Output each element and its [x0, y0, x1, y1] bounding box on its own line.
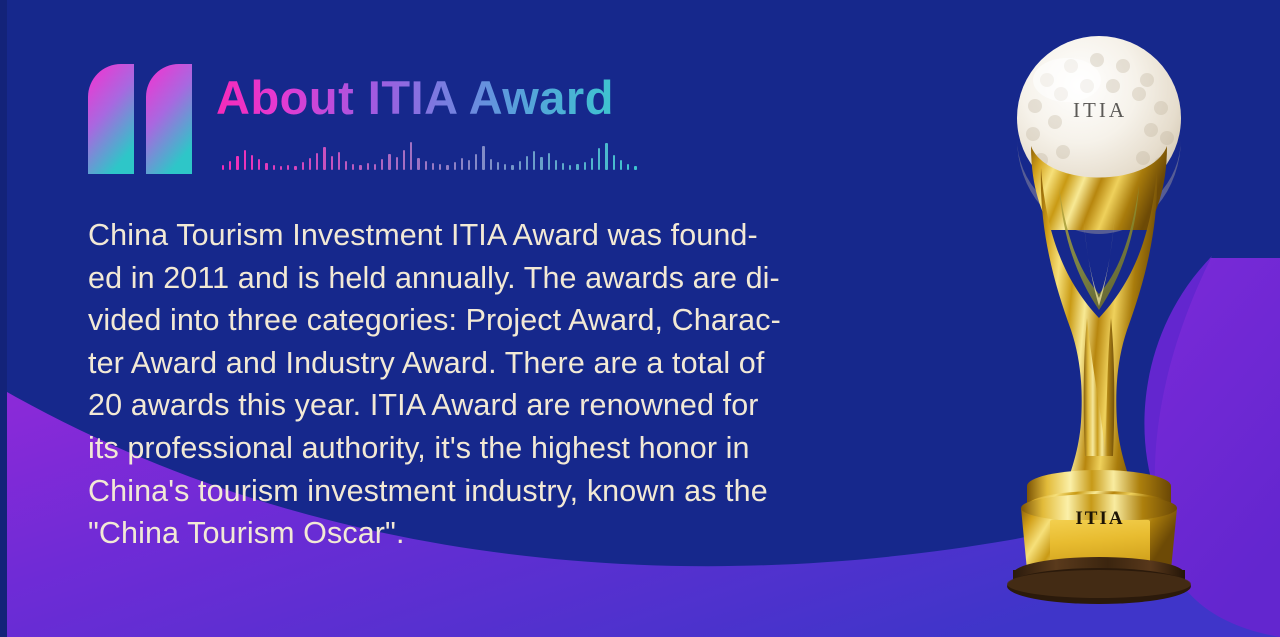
waveform-bar: [446, 165, 448, 170]
waveform-decoration: [222, 140, 642, 170]
waveform-bar: [497, 162, 499, 170]
waveform-bar: [511, 165, 513, 170]
waveform-bar: [634, 166, 636, 170]
waveform-bar: [410, 142, 412, 170]
waveform-bar: [562, 163, 564, 170]
waveform-bar: [273, 165, 275, 170]
waveform-bar: [374, 164, 376, 170]
waveform-bar: [584, 162, 586, 170]
waveform-bar: [613, 155, 615, 170]
waveform-bar: [490, 159, 492, 170]
waveform-bar: [526, 156, 528, 170]
page-title: About ITIA Award: [216, 70, 614, 125]
waveform-bar: [302, 162, 304, 170]
waveform-bar: [403, 150, 405, 170]
waveform-bar: [548, 153, 550, 170]
waveform-bar: [258, 159, 260, 170]
waveform-bar: [533, 151, 535, 170]
waveform-bar: [425, 161, 427, 170]
waveform-bar: [309, 158, 311, 170]
waveform-bar: [620, 160, 622, 170]
waveform-bar: [251, 155, 253, 170]
slide-canvas: About ITIA Award China Tourism Investmen…: [0, 0, 1280, 637]
waveform-bar: [519, 161, 521, 170]
left-edge-strip: [0, 0, 7, 637]
waveform-bar: [367, 163, 369, 170]
waveform-bar: [576, 164, 578, 170]
waveform-bar: [229, 161, 231, 170]
waveform-bar: [591, 158, 593, 170]
waveform-bar: [265, 163, 267, 170]
waveform-bar: [555, 160, 557, 170]
waveform-bar: [323, 147, 325, 170]
waveform-bar: [280, 166, 282, 170]
waveform-bar: [388, 154, 390, 170]
waveform-bar: [294, 166, 296, 170]
waveform-bar: [598, 148, 600, 170]
waveform-bar: [468, 160, 470, 170]
waveform-bar: [338, 152, 340, 170]
quote-open-icon: [88, 64, 192, 174]
waveform-bar: [352, 164, 354, 170]
waveform-bar: [244, 150, 246, 170]
waveform-bar: [569, 165, 571, 170]
waveform-bar: [475, 154, 477, 170]
waveform-bar: [540, 157, 542, 170]
waveform-bar: [236, 156, 238, 170]
waveform-bar: [454, 162, 456, 170]
waveform-bar: [381, 159, 383, 170]
waveform-bar: [461, 158, 463, 170]
waveform-bar: [287, 165, 289, 170]
itia-golden-trophy: [955, 18, 1255, 618]
waveform-bar: [432, 163, 434, 170]
waveform-bar: [627, 164, 629, 170]
waveform-bar: [359, 165, 361, 170]
waveform-bar: [396, 157, 398, 170]
waveform-bar: [605, 143, 607, 170]
body-paragraph: China Tourism Investment ITIA Award was …: [88, 214, 848, 555]
waveform-bar: [482, 146, 484, 170]
waveform-bar: [345, 161, 347, 170]
waveform-bar: [222, 165, 224, 170]
waveform-bar: [331, 156, 333, 170]
waveform-bar: [504, 164, 506, 170]
waveform-bar: [417, 158, 419, 170]
waveform-bar: [316, 153, 318, 170]
waveform-bar: [439, 164, 441, 170]
